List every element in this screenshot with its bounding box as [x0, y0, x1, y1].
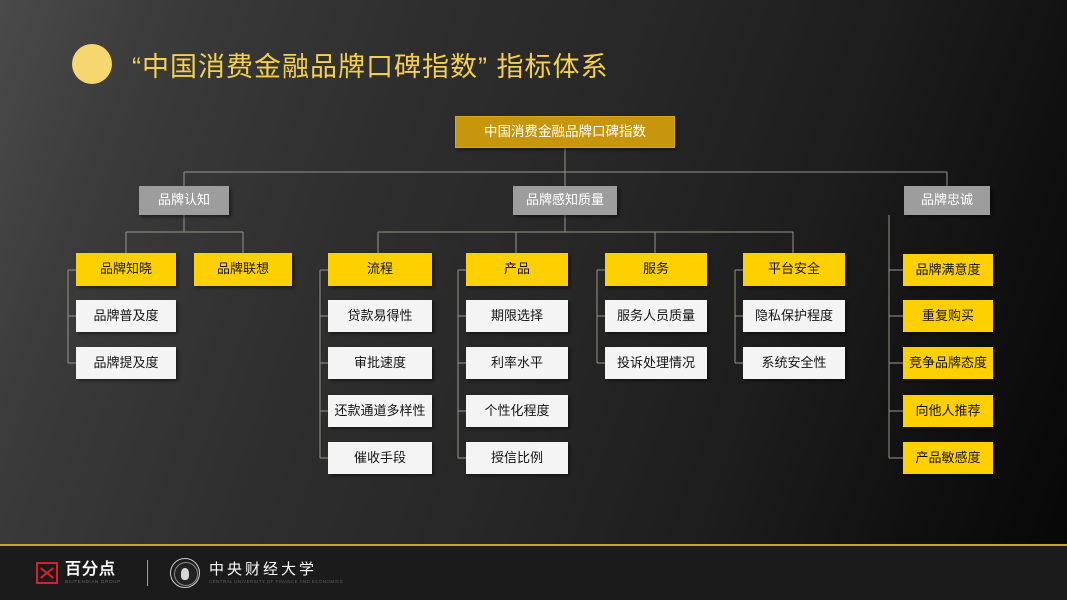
baifendian-name-cn: 百分点: [65, 562, 121, 579]
baifendian-mark-icon: [36, 562, 58, 584]
leaf-node[interactable]: 期限选择: [466, 300, 568, 332]
category-node-product[interactable]: 产品: [466, 253, 568, 286]
leaf-node[interactable]: 服务人员质量: [605, 300, 707, 332]
root-node[interactable]: 中国消费金融品牌口碑指数: [455, 116, 675, 148]
leaf-node[interactable]: 利率水平: [466, 347, 568, 379]
university-seal-icon: [170, 558, 200, 588]
leaf-node[interactable]: 隐私保护程度: [743, 300, 845, 332]
logo-baifendian: 百分点 BAIFENDIAN GROUP: [36, 562, 121, 584]
leaf-node[interactable]: 审批速度: [328, 347, 432, 379]
branch-node-brand-loyalty[interactable]: 品牌忠诚: [904, 186, 990, 215]
leaf-node[interactable]: 品牌普及度: [76, 300, 176, 332]
branch-node-brand-awareness[interactable]: 品牌认知: [139, 186, 229, 215]
leaf-node[interactable]: 还款通道多样性: [328, 395, 432, 427]
category-node-brand-association[interactable]: 品牌联想: [194, 253, 292, 286]
leaf-node[interactable]: 竞争品牌态度: [903, 347, 993, 379]
branch-node-perceived-quality[interactable]: 品牌感知质量: [513, 186, 617, 215]
leaf-node[interactable]: 贷款易得性: [328, 300, 432, 332]
leaf-node[interactable]: 产品敏感度: [903, 442, 993, 474]
leaf-node[interactable]: 投诉处理情况: [605, 347, 707, 379]
vertical-divider-icon: [147, 560, 148, 586]
cufe-name-cn: 中央财经大学: [209, 562, 343, 579]
cufe-name-en: CENTRAL UNIVERSITY OF FINANCE AND ECONOM…: [209, 579, 343, 584]
baifendian-wordmark: 百分点 BAIFENDIAN GROUP: [65, 562, 121, 584]
category-node-service[interactable]: 服务: [605, 253, 707, 286]
leaf-node[interactable]: 授信比例: [466, 442, 568, 474]
leaf-node[interactable]: 重复购买: [903, 300, 993, 332]
category-node-brand-recognition[interactable]: 品牌知晓: [76, 253, 176, 286]
slide-canvas: “中国消费金融品牌口碑指数” 指标体系: [0, 0, 1067, 600]
logo-cufe: 中央财经大学 CENTRAL UNIVERSITY OF FINANCE AND…: [170, 558, 343, 588]
leaf-node[interactable]: 系统安全性: [743, 347, 845, 379]
cufe-wordmark: 中央财经大学 CENTRAL UNIVERSITY OF FINANCE AND…: [209, 562, 343, 584]
slide-footer: 百分点 BAIFENDIAN GROUP 中央财经大学 CENTRAL UNIV…: [0, 546, 1067, 600]
category-node-platform-security[interactable]: 平台安全: [743, 253, 845, 286]
leaf-node[interactable]: 催收手段: [328, 442, 432, 474]
leaf-node[interactable]: 品牌满意度: [903, 254, 993, 286]
baifendian-name-en: BAIFENDIAN GROUP: [65, 579, 121, 584]
leaf-node[interactable]: 个性化程度: [466, 395, 568, 427]
org-chart-diagram: 中国消费金融品牌口碑指数 品牌认知 品牌感知质量 品牌忠诚 品牌知晓 品牌联想 …: [0, 0, 1067, 520]
category-node-process[interactable]: 流程: [328, 253, 432, 286]
leaf-node[interactable]: 向他人推荐: [903, 395, 993, 427]
leaf-node[interactable]: 品牌提及度: [76, 347, 176, 379]
